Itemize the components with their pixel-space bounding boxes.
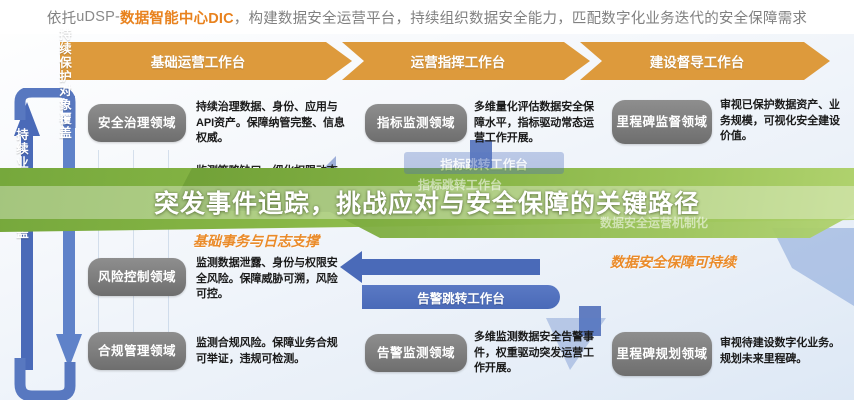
banner-rest: ，构建数据安全运营平台，持续组织数据安全能力，匹配数字化业务迭代的安全保障需求 <box>234 7 807 28</box>
workbench-label: 基础运营工作台 <box>151 51 246 71</box>
diagram-canvas: 依托uDSP-数据智能中心DIC，构建数据安全运营平台，持续组织数据安全能力，匹… <box>0 0 854 400</box>
card-desc-risk-control: 监测数据泄露、身份与权限安全风险。保障威胁可溯，风险可控。 <box>196 256 346 303</box>
card-title: 告警监测领域 <box>377 345 455 362</box>
header-banner: 依托uDSP-数据智能中心DIC，构建数据安全运营平台，持续组织数据安全能力，匹… <box>0 0 854 34</box>
card-title: 里程碑规划领域 <box>616 346 707 363</box>
card-pill-metric-monitoring[interactable]: 指标监测领域 <box>365 104 467 142</box>
jump-bar-alert[interactable]: 告警跳转工作台 <box>362 285 560 309</box>
workbench-chevron-basic[interactable]: 基础运营工作台 <box>60 42 352 80</box>
card-desc-metric-monitoring: 多维量化评估数据安全保障水平，指标驱动常态运营工作开展。 <box>474 100 598 147</box>
caption-sustainable-security: 数据安全保障可持续 <box>610 252 736 272</box>
banner-brand-highlight: 数据智能中心DIC <box>120 7 234 28</box>
banner-brand-plain: uDSP- <box>76 9 120 25</box>
card-desc-security-governance: 持续治理数据、身份、应用与API资产。保障纳管完整、信息权威。 <box>196 100 346 147</box>
card-desc-milestone-planning: 审视待建设数字化业务。规划未来里程碑。 <box>720 336 848 367</box>
overlay-title-text: 突发事件追踪，挑战应对与安全保障的关键路径 <box>0 182 854 222</box>
decor-blue-corner <box>772 228 854 306</box>
card-title: 风险控制领域 <box>98 269 176 286</box>
card-pill-security-governance[interactable]: 安全治理领域 <box>88 104 186 142</box>
card-pill-risk-control[interactable]: 风险控制领域 <box>88 258 186 296</box>
arrow-connector-bottom <box>4 358 82 400</box>
vertical-label-protection-scope: 持续保护对象覆盖 <box>55 28 74 140</box>
card-pill-milestone-supervision[interactable]: 里程碑监督领域 <box>612 100 712 144</box>
jump-bar-label: 告警跳转工作台 <box>417 288 505 307</box>
caption-basic-affairs: 基础事务与日志支撑 <box>193 231 319 251</box>
workbench-label: 建设督导工作台 <box>650 51 745 71</box>
workbench-chevron-row: 基础运营工作台 运营指挥工作台 建设督导工作台 <box>60 42 850 80</box>
card-title: 安全治理领域 <box>98 115 176 132</box>
card-pill-milestone-planning[interactable]: 里程碑规划领域 <box>612 332 712 376</box>
card-desc-alert-monitoring: 多维监测数据安全告警事件，权重驱动突发运营工作开展。 <box>474 330 598 377</box>
card-title: 指标监测领域 <box>377 115 455 132</box>
card-desc-milestone-supervision: 审视已保护数据资产、业务规模，可视化安全建设价值。 <box>720 98 848 145</box>
banner-prefix: 依托 <box>47 7 76 28</box>
card-title: 里程碑监督领域 <box>616 114 707 131</box>
card-desc-compliance-management: 监测合规风险。保障业务合规可举证，违规可检测。 <box>196 336 346 367</box>
workbench-chevron-supervision[interactable]: 建设督导工作台 <box>580 42 830 80</box>
jump-bar-metric[interactable]: 指标跳转工作台 <box>404 152 564 174</box>
arrow-left-incident-flow <box>340 250 540 284</box>
jump-bar-label: 指标跳转工作台 <box>440 154 528 173</box>
card-pill-compliance-management[interactable]: 合规管理领域 <box>88 332 186 370</box>
card-pill-alert-monitoring[interactable]: 告警监测领域 <box>365 334 467 372</box>
card-title: 合规管理领域 <box>98 343 176 360</box>
workbench-chevron-command[interactable]: 运营指挥工作台 <box>342 42 590 80</box>
workbench-label: 运营指挥工作台 <box>411 51 506 71</box>
